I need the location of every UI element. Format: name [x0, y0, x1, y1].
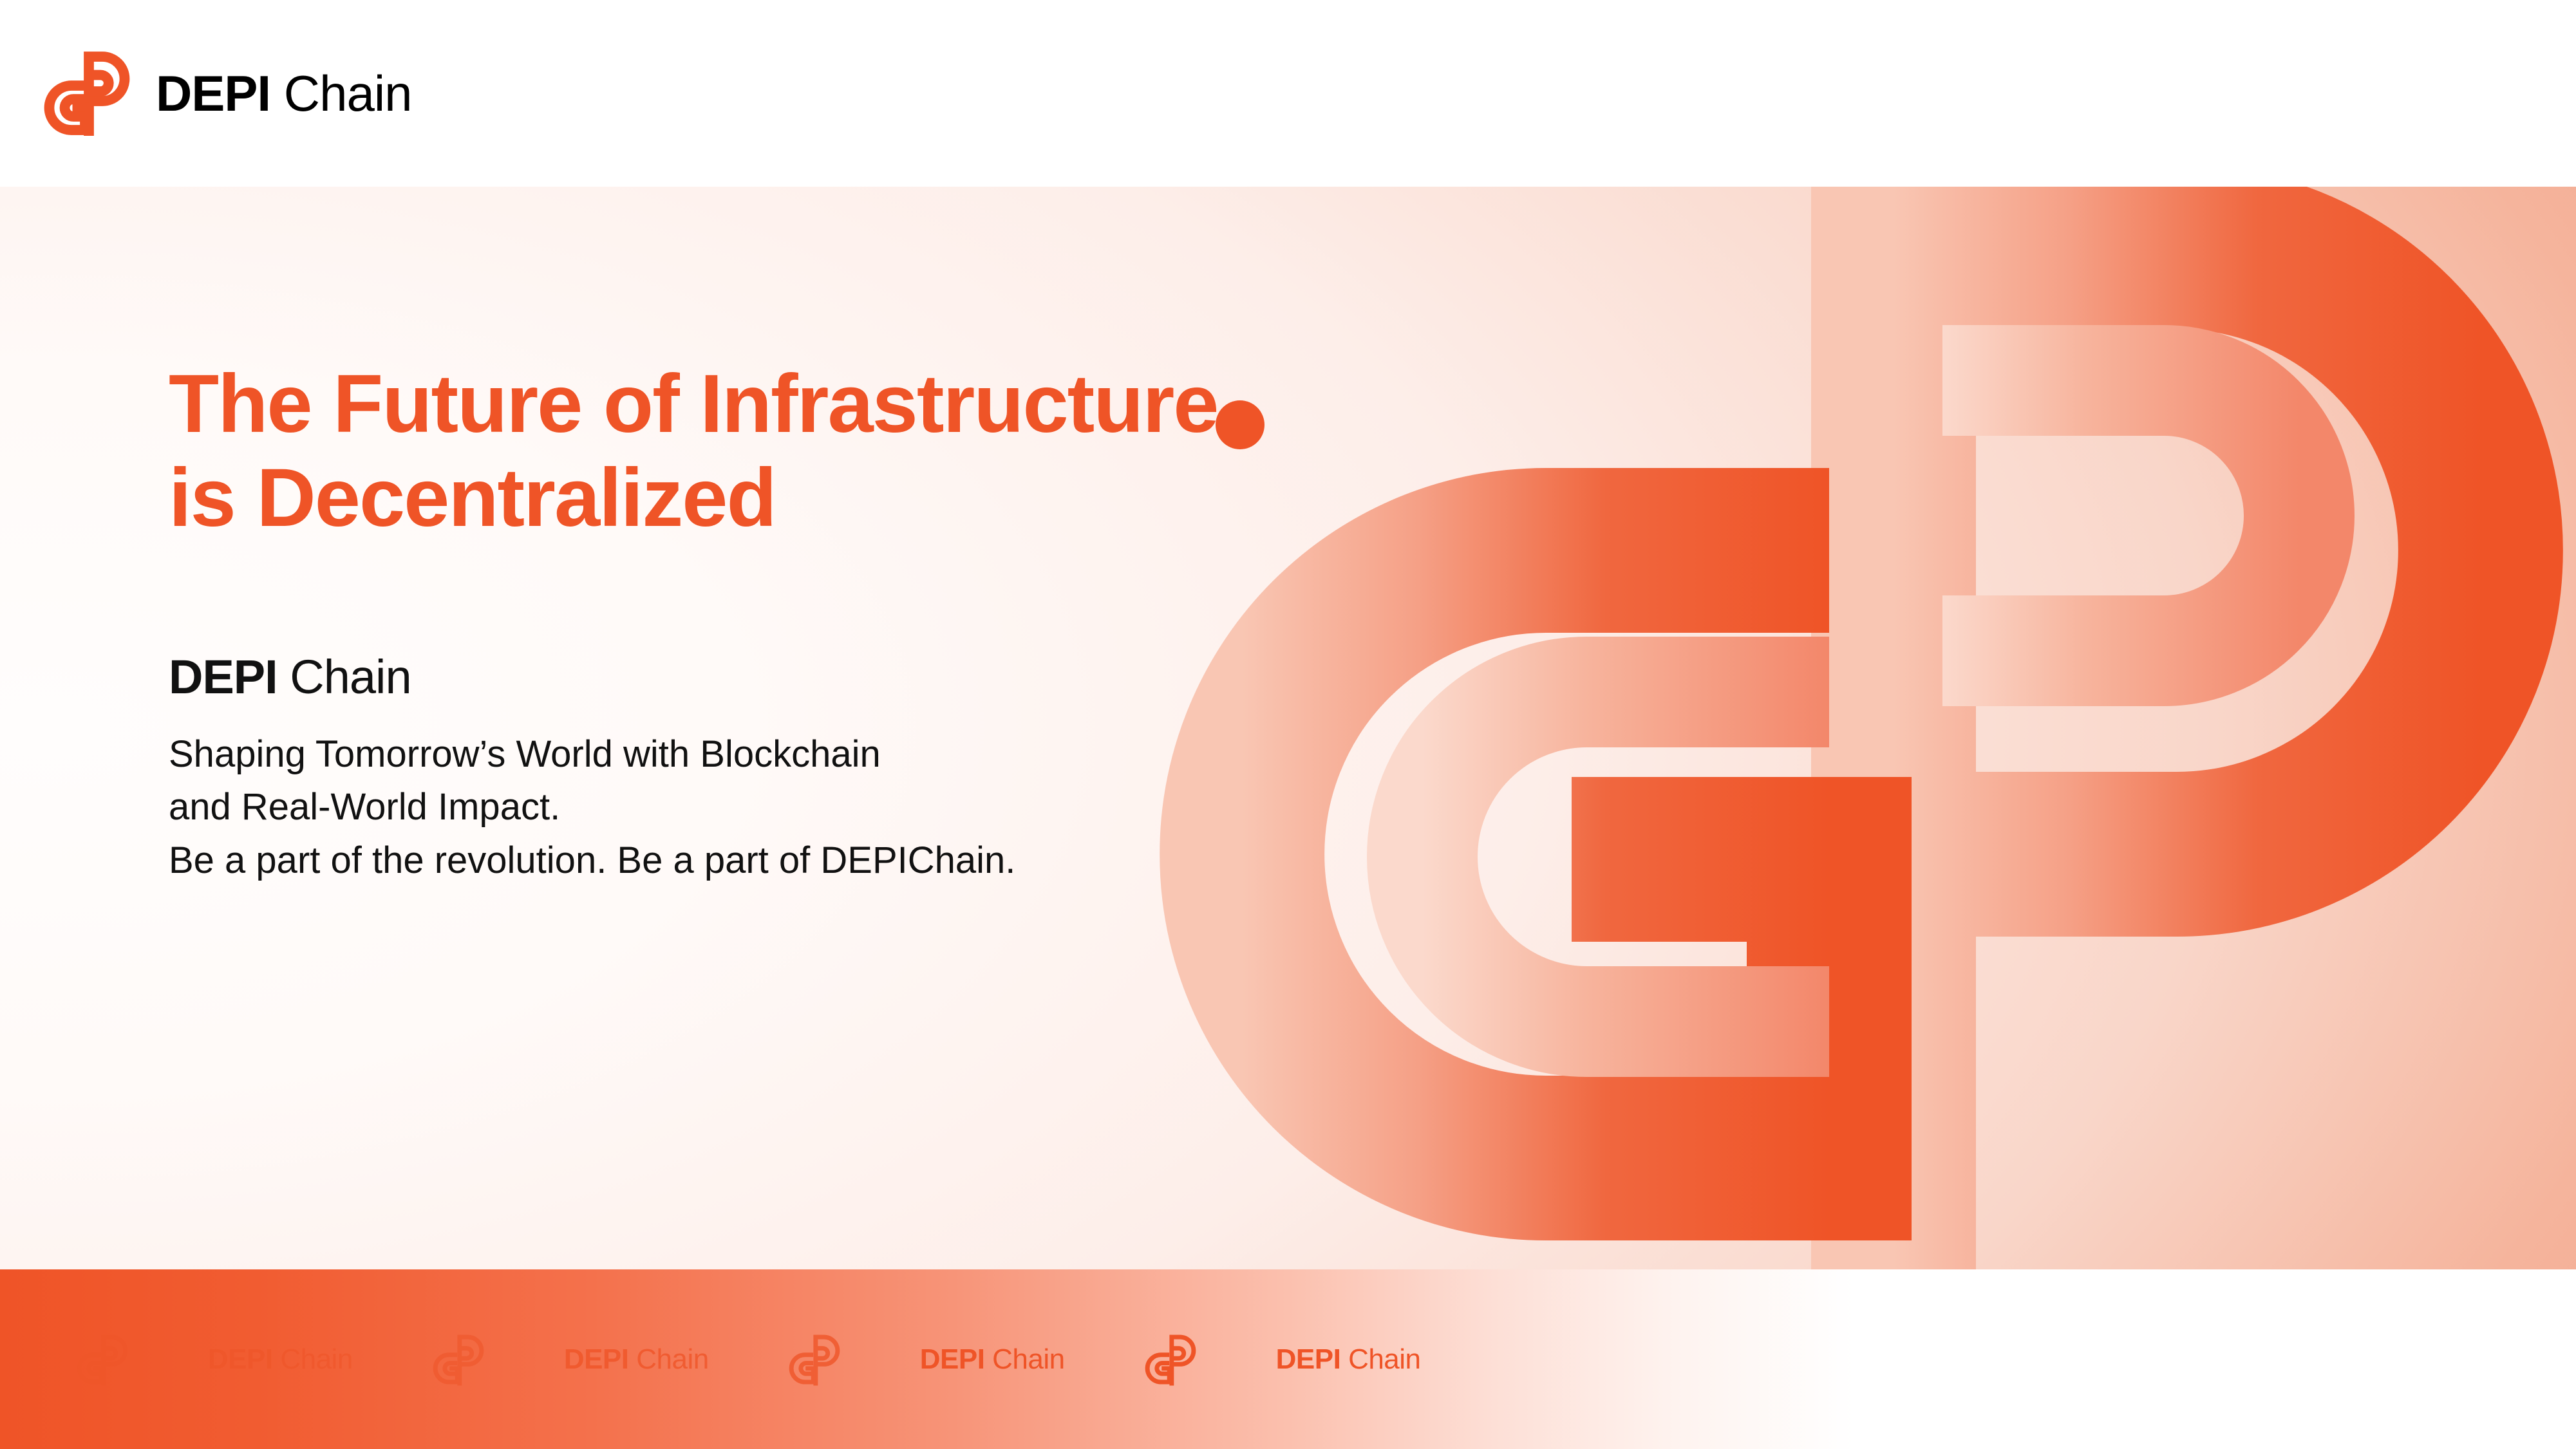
tagline-line-1: Shaping Tomorrow’s World with Blockchain	[169, 728, 1217, 781]
tagline: Shaping Tomorrow’s World with Blockchain…	[169, 728, 1217, 887]
headline-line-1: The Future of Infrastructure	[169, 357, 1217, 451]
footer-wordmark: DEPI Chain	[920, 1345, 1065, 1374]
footer-item	[785, 1330, 844, 1389]
footer-word-space	[629, 1343, 637, 1375]
hero-banner: DEPI Chain	[0, 0, 2576, 1449]
footer-word-bold: DEPI	[564, 1343, 629, 1375]
footer-item: DEPI Chain	[1276, 1345, 1421, 1374]
tagline-line-2: and Real-World Impact.	[169, 781, 1217, 834]
footer-wordmark: DEPI Chain	[564, 1345, 709, 1374]
brand-name-bold: DEPI	[156, 65, 270, 122]
footer-logo-row: DEPI Chain	[0, 1269, 1421, 1449]
orange-dot	[1216, 400, 1264, 449]
footer-word-bold: DEPI	[1276, 1343, 1341, 1375]
footer-item: DEPI Chain	[564, 1345, 709, 1374]
headline-line-2: is Decentralized	[169, 451, 1217, 545]
gp-monogram-icon	[429, 1330, 488, 1389]
gp-monogram-icon	[39, 45, 135, 142]
hero-brand-wordmark: DEPI Chain	[169, 653, 1217, 701]
footer-item	[429, 1330, 488, 1389]
footer-item	[73, 1330, 132, 1389]
footer-word-bold: DEPI	[208, 1343, 273, 1375]
gp-monogram-icon	[785, 1330, 844, 1389]
brand-header: DEPI Chain	[39, 45, 412, 142]
brand-wordmark: DEPI Chain	[156, 68, 412, 118]
brand-name-regular-text: Chain	[284, 65, 412, 122]
footer-item: DEPI Chain	[208, 1345, 353, 1374]
hero-card: The Future of Infrastructure is Decentra…	[0, 187, 2576, 1269]
footer-word-space	[984, 1343, 992, 1375]
gp-monogram-icon	[73, 1330, 132, 1389]
footer-wordmark: DEPI Chain	[208, 1345, 353, 1374]
hero-sub-block: DEPI Chain Shaping Tomorrow’s World with…	[169, 653, 1217, 887]
footer-word-space	[1340, 1343, 1348, 1375]
hero-brand-bold: DEPI	[169, 650, 277, 704]
hero-brand-regular: Chain	[290, 650, 411, 704]
tagline-line-3: Be a part of the revolution. Be a part o…	[169, 834, 1217, 887]
hero-copy: The Future of Infrastructure is Decentra…	[169, 357, 1217, 887]
footer-wordmark: DEPI Chain	[1276, 1345, 1421, 1374]
footer-item: DEPI Chain	[920, 1345, 1065, 1374]
footer-word-regular: Chain	[992, 1343, 1064, 1375]
gp-monogram-watermark-icon	[1108, 187, 2576, 1269]
gp-monogram-icon	[1141, 1330, 1200, 1389]
footer-item	[1141, 1330, 1200, 1389]
footer-logo-strip: DEPI Chain	[0, 1269, 2576, 1449]
footer-word-bold: DEPI	[920, 1343, 985, 1375]
footer-word-space	[273, 1343, 281, 1375]
hero-brand-space	[277, 650, 290, 704]
footer-word-regular: Chain	[1348, 1343, 1420, 1375]
footer-word-regular: Chain	[280, 1343, 352, 1375]
footer-word-regular: Chain	[636, 1343, 708, 1375]
brand-name-regular	[270, 65, 284, 122]
